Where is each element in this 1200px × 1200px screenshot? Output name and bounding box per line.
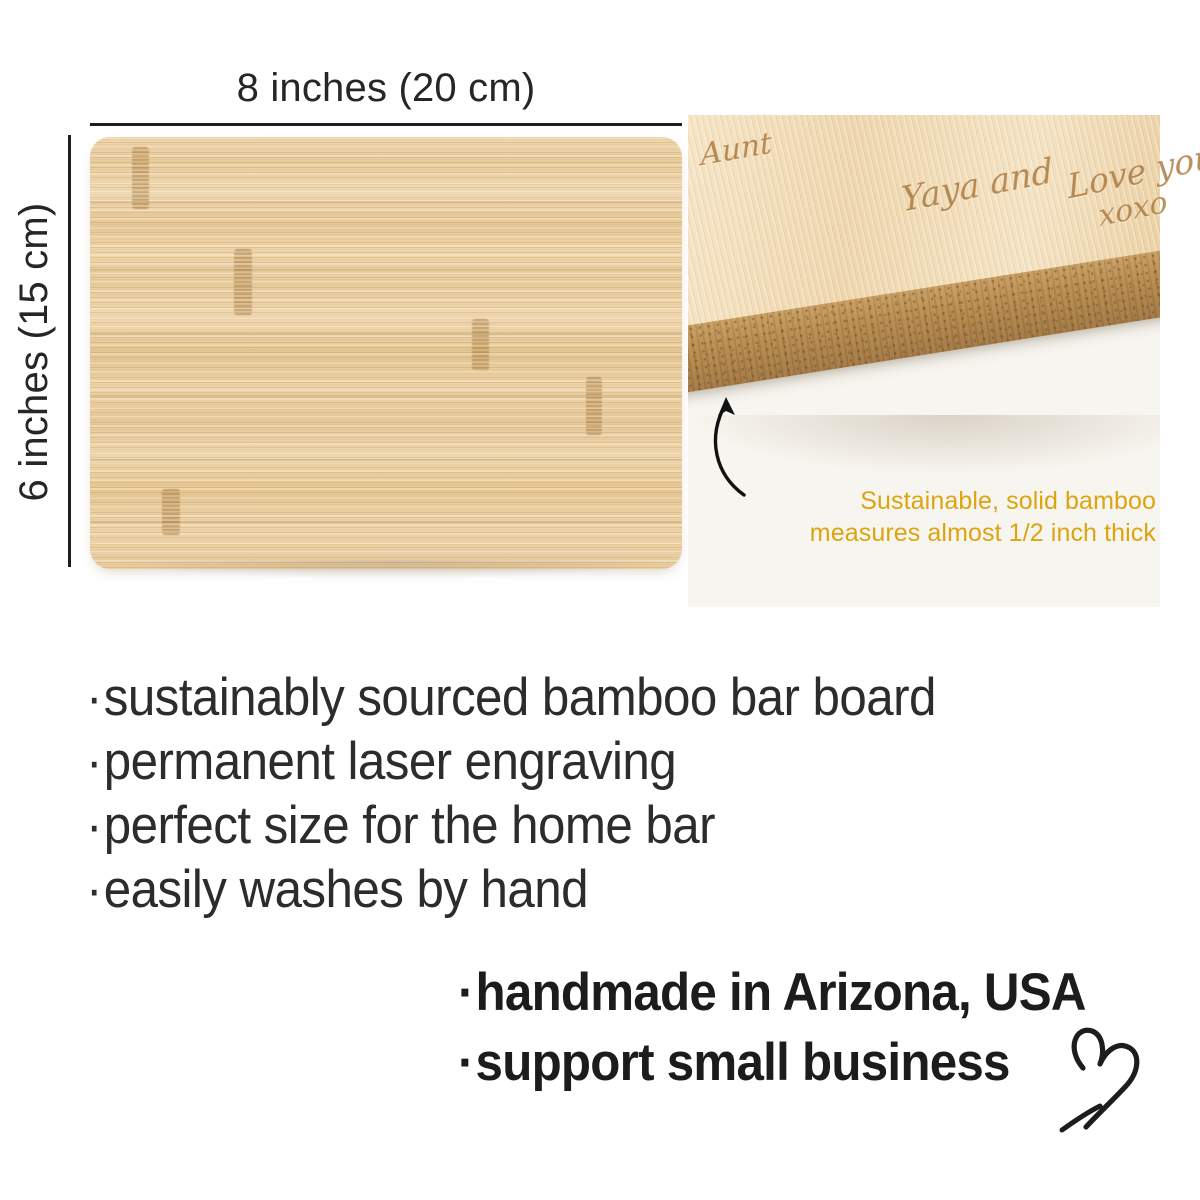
bullet-dot: ·: [458, 963, 474, 1022]
height-dimension-label: 6 inches (15 cm): [12, 132, 56, 572]
feature-item-label: perfect size for the home bar: [104, 796, 715, 855]
board-thickness-photo: Sustainable, solid bamboo measures almos…: [688, 115, 1160, 607]
feature-item-label: sustainably sourced bamboo bar board: [104, 668, 936, 727]
width-dimension-line: [90, 123, 682, 126]
bamboo-node-mark: [472, 319, 489, 371]
bamboo-node-mark: [162, 489, 180, 535]
height-dimension-line: [68, 135, 71, 567]
feature-bullet-list: ·sustainably sourced bamboo bar board ·p…: [86, 666, 1096, 922]
bullet-dot: ·: [86, 860, 102, 919]
thickness-caption: Sustainable, solid bamboo measures almos…: [706, 485, 1156, 549]
feature-item: ·sustainably sourced bamboo bar board: [86, 666, 1025, 730]
feature-item-label: permanent laser engraving: [104, 732, 676, 791]
board-dimension-figure: 8 inches (20 cm) 6 inches (15 cm): [0, 0, 700, 620]
origin-item: ·handmade in Arizona, USA: [458, 958, 1128, 1028]
bullet-dot: ·: [86, 796, 102, 855]
thickness-caption-line-2: measures almost 1/2 inch thick: [706, 517, 1156, 549]
feature-item: ·perfect size for the home bar: [86, 794, 1025, 858]
bamboo-node-mark: [234, 249, 252, 315]
feature-item: ·easily washes by hand: [86, 858, 1025, 922]
bamboo-node-mark: [132, 147, 149, 209]
hand-drawn-heart-icon: [1056, 1022, 1166, 1142]
feature-item: ·permanent laser engraving: [86, 730, 1025, 794]
width-dimension-label: 8 inches (20 cm): [90, 66, 682, 110]
board-drop-shadow: [110, 560, 670, 578]
thickness-caption-line-1: Sustainable, solid bamboo: [706, 485, 1156, 517]
bamboo-board-top-view: [90, 137, 682, 569]
origin-item: ·support small business: [458, 1028, 1128, 1098]
bullet-dot: ·: [86, 732, 102, 791]
bullet-dot: ·: [458, 1033, 474, 1092]
feature-item-label: easily washes by hand: [104, 860, 588, 919]
bamboo-node-mark: [586, 377, 602, 435]
bullet-dot: ·: [86, 668, 102, 727]
origin-item-label: support small business: [476, 1033, 1010, 1092]
origin-item-label: handmade in Arizona, USA: [476, 963, 1086, 1022]
infographic-canvas: 8 inches (20 cm) 6 inches (15 cm): [0, 0, 1200, 1200]
